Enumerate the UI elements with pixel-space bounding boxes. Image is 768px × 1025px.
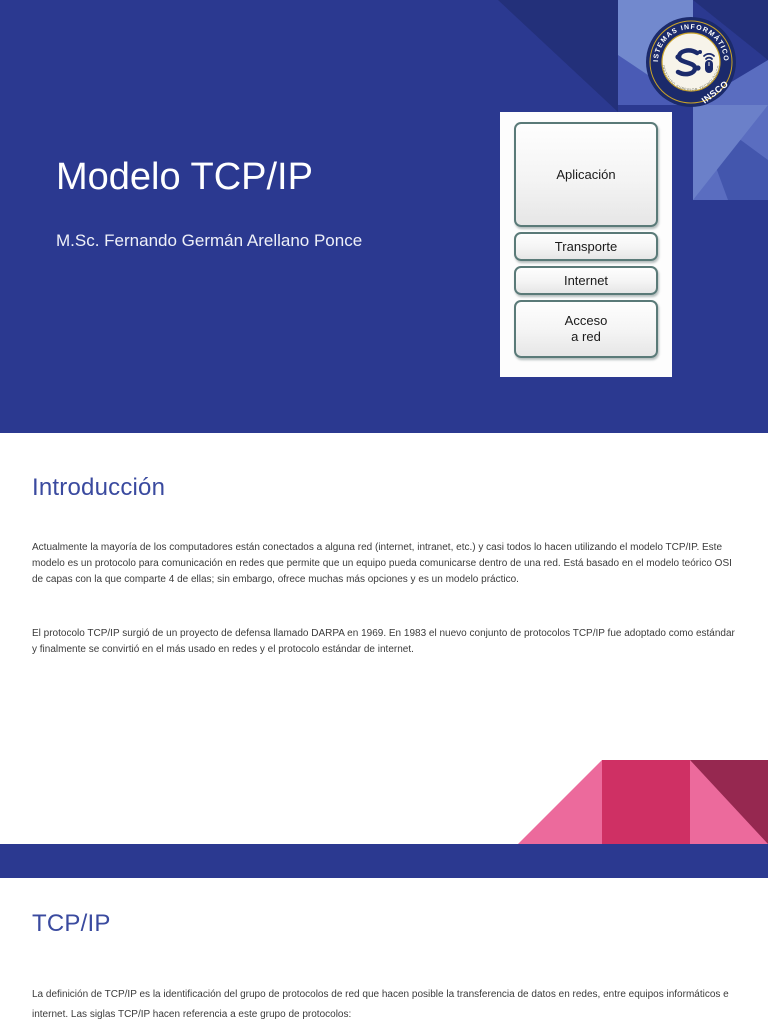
paragraph-introduccion-1: Actualmente la mayoría de los computador… [32, 540, 738, 589]
paragraph-introduccion-2: El protocolo TCP/IP surgió de un proyect… [32, 626, 738, 658]
stack-layer-transporte: Transporte [514, 232, 658, 261]
stack-layer-internet: Internet [514, 266, 658, 295]
page-author: M.Sc. Fernando Germán Arellano Ponce [56, 231, 362, 251]
section-heading-introduccion: Introducción [32, 474, 165, 502]
stack-layer-acceso-a-red: Acceso a red [514, 300, 658, 358]
institution-logo: SISTEMAS INFORMÁTICOS INSTITUTO SUPERIOR… [645, 16, 737, 108]
pink-geometric-decoration [500, 760, 768, 844]
tcpip-stack-diagram: Aplicación Transporte Internet Acceso a … [500, 112, 672, 377]
page-title: Modelo TCP/IP [56, 157, 313, 199]
paragraph-tcpip-1: La definición de TCP/IP es la identifica… [32, 985, 738, 1025]
stack-layer-aplicacion: Aplicación [514, 122, 658, 227]
stack-layer-acceso-line1: Acceso [565, 313, 608, 328]
section-divider-bar [0, 844, 768, 878]
hero-banner: SISTEMAS INFORMÁTICOS INSTITUTO SUPERIOR… [0, 0, 768, 433]
section-heading-tcpip: TCP/IP [32, 910, 111, 938]
stack-layer-acceso-line2: a red [571, 329, 601, 344]
